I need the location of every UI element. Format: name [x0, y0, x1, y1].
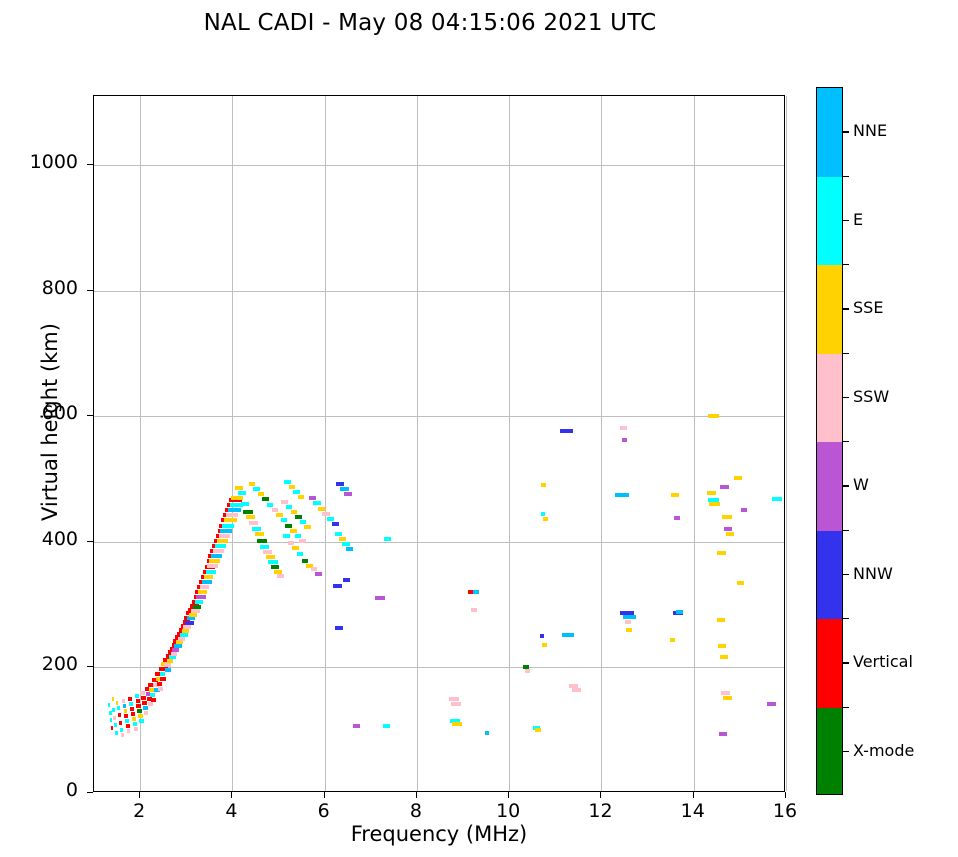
- echo-mark: [322, 512, 329, 516]
- gridline-vertical: [786, 96, 787, 791]
- echo-mark: [309, 496, 316, 500]
- colorbar-segment-ssw: [817, 354, 842, 443]
- x-axis-tick-label: 6: [294, 800, 354, 822]
- x-axis-tick-label: 10: [478, 800, 538, 822]
- y-axis-tick: [87, 666, 93, 667]
- x-axis-tick: [231, 792, 232, 798]
- echo-mark: [708, 414, 719, 418]
- echo-mark: [117, 706, 120, 710]
- echo-mark: [108, 703, 110, 707]
- colorbar-label-nne: NNE: [853, 121, 887, 140]
- y-axis-tick: [87, 792, 93, 793]
- x-axis-tick-label: 12: [570, 800, 630, 822]
- echo-mark: [260, 545, 269, 549]
- echo-mark: [123, 704, 126, 708]
- echo-mark: [125, 719, 128, 723]
- echo-mark: [737, 581, 744, 585]
- echo-mark: [204, 575, 214, 579]
- echo-mark: [295, 534, 301, 538]
- echo-mark: [281, 500, 287, 504]
- echo-mark: [541, 483, 546, 487]
- echo-mark: [137, 709, 142, 713]
- echo-mark: [626, 628, 632, 632]
- x-axis-tick: [508, 792, 509, 798]
- echo-mark: [198, 590, 207, 594]
- x-axis-tick: [416, 792, 417, 798]
- echo-mark: [525, 669, 531, 673]
- echo-mark: [119, 721, 122, 725]
- echo-mark: [266, 555, 275, 559]
- colorbar: [816, 87, 843, 795]
- echo-mark: [255, 532, 264, 536]
- colorbar-tick: [843, 751, 849, 752]
- x-axis-tick: [600, 792, 601, 798]
- echo-mark: [572, 688, 581, 692]
- echo-mark: [258, 492, 264, 496]
- echo-mark: [235, 486, 243, 490]
- echo-mark: [719, 732, 727, 736]
- echo-mark: [290, 529, 296, 533]
- echo-mark: [295, 515, 301, 519]
- echo-mark: [219, 534, 231, 538]
- echo-mark: [113, 716, 115, 720]
- y-axis-tick: [87, 164, 93, 165]
- echo-mark: [111, 726, 113, 730]
- y-axis-tick: [87, 415, 93, 416]
- echo-mark: [383, 724, 390, 728]
- echo-mark: [160, 672, 166, 676]
- echo-mark: [124, 709, 127, 713]
- colorbar-tick: [843, 662, 849, 663]
- echo-mark: [116, 701, 118, 705]
- echo-mark: [332, 522, 339, 526]
- echo-mark: [288, 541, 294, 545]
- echo-mark: [174, 644, 181, 648]
- echo-mark: [311, 567, 317, 571]
- y-axis-tick-label: 0: [0, 779, 78, 801]
- y-axis-tick: [87, 541, 93, 542]
- echo-mark: [344, 492, 352, 496]
- echo-mark: [262, 497, 268, 501]
- echo-mark: [115, 731, 117, 735]
- echo-mark: [327, 517, 334, 521]
- colorbar-tick: [843, 131, 849, 132]
- y-axis-title: Virtual height (km): [38, 222, 62, 622]
- echo-mark: [724, 527, 732, 531]
- echo-mark: [141, 696, 146, 700]
- echo-mark: [206, 570, 216, 574]
- echo-mark: [734, 476, 741, 480]
- echo-mark: [541, 512, 546, 516]
- colorbar-label-vertical: Vertical: [853, 652, 913, 671]
- echo-mark: [178, 637, 185, 641]
- echo-mark: [139, 719, 144, 723]
- figure-title: NAL CADI - May 08 04:15:06 2021 UTC: [0, 10, 860, 36]
- echo-mark: [336, 482, 344, 486]
- echo-mark: [165, 668, 171, 672]
- echo-mark: [158, 687, 164, 691]
- echo-mark: [622, 438, 628, 442]
- echo-mark: [136, 704, 141, 708]
- colorbar-segment-nne: [817, 88, 842, 177]
- colorbar-boundary-tick: [843, 530, 849, 531]
- echo-mark: [185, 621, 193, 625]
- echo-mark: [193, 605, 202, 609]
- echo-mark: [291, 510, 297, 514]
- colorbar-boundary-tick: [843, 353, 849, 354]
- echo-mark: [709, 502, 719, 506]
- colorbar-boundary-tick: [843, 176, 849, 177]
- colorbar-boundary-tick: [843, 264, 849, 265]
- echo-mark: [189, 613, 197, 617]
- echo-mark: [717, 618, 725, 622]
- echo-mark: [277, 574, 284, 578]
- echo-mark: [285, 524, 291, 528]
- echo-mark: [257, 539, 266, 543]
- y-axis-tick: [87, 290, 93, 291]
- echo-mark: [263, 550, 272, 554]
- x-axis-tick-label: 14: [663, 800, 723, 822]
- colorbar-label-nnw: NNW: [853, 564, 893, 583]
- echo-mark: [717, 551, 726, 555]
- echo-mark: [238, 491, 246, 495]
- echo-mark: [128, 697, 132, 701]
- colorbar-boundary-tick: [843, 441, 849, 442]
- echo-mark: [562, 633, 574, 637]
- echo-mark: [625, 620, 631, 624]
- echo-mark: [167, 659, 173, 663]
- echo-mark: [249, 482, 255, 486]
- echo-mark: [723, 696, 731, 700]
- echo-mark: [741, 508, 747, 512]
- echo-mark: [293, 490, 299, 494]
- echo-mark: [200, 585, 209, 589]
- x-axis-tick: [324, 792, 325, 798]
- echo-mark: [196, 595, 205, 599]
- echo-mark: [191, 609, 200, 613]
- echo-mark: [124, 714, 127, 718]
- x-axis-tick: [785, 792, 786, 798]
- echo-mark: [195, 600, 204, 604]
- colorbar-tick: [843, 574, 849, 575]
- colorbar-tick: [843, 308, 849, 309]
- echo-mark: [133, 722, 137, 726]
- echo-mark: [138, 714, 143, 718]
- echo-mark: [126, 724, 129, 728]
- colorbar-label-ssw: SSW: [853, 387, 889, 406]
- echo-mark: [143, 706, 148, 710]
- echo-mark: [183, 625, 191, 629]
- echo-mark: [131, 712, 135, 716]
- echo-mark: [615, 493, 629, 497]
- echo-mark: [720, 655, 728, 659]
- echo-mark: [180, 633, 188, 637]
- echo-mark: [135, 694, 139, 698]
- x-axis-tick-label: 8: [386, 800, 446, 822]
- echo-mark: [130, 707, 134, 711]
- x-axis-title: Frequency (MHz): [93, 822, 785, 846]
- colorbar-tick: [843, 220, 849, 221]
- colorbar-tick: [843, 485, 849, 486]
- echo-mark: [283, 534, 289, 538]
- echo-mark: [542, 643, 547, 647]
- colorbar-label-w: W: [853, 475, 869, 494]
- echo-mark: [132, 717, 136, 721]
- colorbar-segment-nnw: [817, 531, 842, 620]
- echo-mark: [182, 629, 190, 633]
- echo-mark: [142, 701, 147, 705]
- echo-mark: [473, 590, 479, 594]
- echo-mark: [335, 626, 343, 630]
- echo-mark: [114, 723, 116, 727]
- echo-mark: [268, 560, 277, 564]
- ionogram-figure: NAL CADI - May 08 04:15:06 2021 UTC 2468…: [0, 0, 958, 857]
- echo-mark: [676, 610, 682, 614]
- echo-mark: [129, 702, 133, 706]
- echo-mark: [136, 699, 141, 703]
- echo-mark: [217, 539, 229, 543]
- colorbar-boundary-tick: [843, 618, 849, 619]
- echo-mark: [110, 718, 112, 722]
- echo-mark: [674, 516, 680, 520]
- echo-mark: [160, 677, 166, 681]
- echo-mark: [718, 644, 726, 648]
- echo-mark: [109, 711, 111, 715]
- echo-mark: [721, 691, 729, 695]
- echo-mark: [543, 517, 548, 521]
- echo-mark: [720, 485, 729, 489]
- echo-mark: [144, 711, 149, 715]
- x-axis-tick-label: 4: [201, 800, 261, 822]
- echo-mark: [252, 527, 261, 531]
- colorbar-tick: [843, 397, 849, 398]
- echo-mark: [140, 691, 145, 695]
- echo-mark: [340, 487, 348, 491]
- echo-mark: [224, 518, 236, 522]
- data-layer: [94, 96, 784, 791]
- echo-mark: [249, 521, 258, 525]
- echo-mark: [272, 508, 278, 512]
- echo-mark: [157, 682, 163, 686]
- echo-mark: [118, 713, 121, 717]
- echo-mark: [127, 729, 130, 733]
- echo-mark: [335, 532, 342, 536]
- echo-mark: [299, 539, 305, 543]
- echo-mark: [452, 722, 462, 726]
- echo-mark: [289, 485, 295, 489]
- echo-mark: [231, 496, 244, 500]
- colorbar-segment-w: [817, 442, 842, 531]
- colorbar-segment-vertical: [817, 619, 842, 708]
- echo-mark: [449, 697, 459, 701]
- echo-mark: [209, 559, 220, 563]
- echo-mark: [187, 616, 195, 620]
- colorbar-label-e: E: [853, 210, 863, 229]
- echo-mark: [164, 663, 170, 667]
- echo-mark: [671, 493, 679, 497]
- echo-mark: [286, 505, 292, 509]
- echo-mark: [226, 513, 238, 517]
- echo-mark: [172, 648, 179, 652]
- colorbar-segment-e: [817, 177, 842, 266]
- x-axis-tick-label: 2: [109, 800, 169, 822]
- echo-mark: [540, 634, 545, 638]
- echo-mark: [471, 608, 477, 612]
- echo-mark: [560, 429, 573, 433]
- colorbar-label-x-mode: X-mode: [853, 741, 914, 760]
- echo-mark: [243, 510, 252, 514]
- echo-mark: [353, 724, 359, 728]
- echo-mark: [297, 552, 303, 556]
- echo-mark: [176, 640, 183, 644]
- echo-mark: [281, 518, 287, 522]
- y-axis-tick-label: 200: [0, 653, 78, 675]
- echo-mark: [253, 487, 259, 491]
- echo-mark: [772, 497, 782, 501]
- echo-mark: [767, 702, 776, 706]
- echo-mark: [241, 502, 249, 506]
- echo-mark: [343, 578, 350, 582]
- echo-mark: [313, 501, 320, 505]
- echo-mark: [485, 731, 489, 735]
- echo-mark: [339, 537, 346, 541]
- echo-mark: [318, 507, 325, 511]
- echo-mark: [220, 529, 232, 533]
- echo-mark: [134, 727, 138, 731]
- echo-mark: [722, 515, 731, 519]
- echo-mark: [346, 547, 353, 551]
- echo-mark: [148, 702, 153, 706]
- echo-mark: [213, 549, 224, 553]
- y-axis-tick-label: 1000: [0, 151, 78, 173]
- echo-mark: [202, 580, 212, 584]
- echo-mark: [151, 698, 156, 702]
- echo-mark: [304, 525, 310, 529]
- echo-mark: [228, 508, 241, 512]
- colorbar-segment-x-mode: [817, 708, 842, 796]
- echo-mark: [623, 615, 636, 619]
- echo-mark: [276, 513, 282, 517]
- echo-mark: [122, 699, 125, 703]
- echo-mark: [171, 652, 178, 656]
- x-axis-tick-label: 16: [755, 800, 815, 822]
- echo-mark: [535, 728, 541, 732]
- echo-mark: [284, 480, 290, 484]
- echo-mark: [620, 426, 627, 430]
- colorbar-segment-sse: [817, 265, 842, 354]
- echo-mark: [670, 638, 676, 642]
- echo-mark: [112, 697, 114, 701]
- colorbar-label-sse: SSE: [853, 298, 883, 317]
- echo-mark: [292, 546, 298, 550]
- echo-mark: [333, 584, 342, 588]
- echo-mark: [211, 554, 222, 558]
- echo-mark: [384, 537, 391, 541]
- echo-mark: [169, 655, 176, 659]
- echo-mark: [215, 544, 226, 548]
- echo-mark: [120, 728, 123, 732]
- x-axis-tick: [139, 792, 140, 798]
- echo-mark: [707, 491, 716, 495]
- x-axis-tick: [693, 792, 694, 798]
- echo-mark: [112, 708, 114, 712]
- echo-mark: [222, 524, 234, 528]
- echo-mark: [121, 733, 124, 737]
- colorbar-boundary-tick: [843, 707, 849, 708]
- echo-mark: [300, 520, 306, 524]
- echo-mark: [246, 515, 255, 519]
- echo-mark: [375, 596, 384, 600]
- echo-mark: [315, 572, 321, 576]
- echo-mark: [302, 559, 308, 563]
- echo-mark: [271, 565, 279, 569]
- echo-mark: [267, 503, 273, 507]
- plot-area: [93, 95, 785, 792]
- echo-mark: [451, 702, 461, 706]
- echo-mark: [726, 532, 734, 536]
- echo-mark: [298, 495, 304, 499]
- echo-mark: [150, 693, 155, 697]
- echo-mark: [207, 564, 217, 568]
- echo-mark: [342, 542, 349, 546]
